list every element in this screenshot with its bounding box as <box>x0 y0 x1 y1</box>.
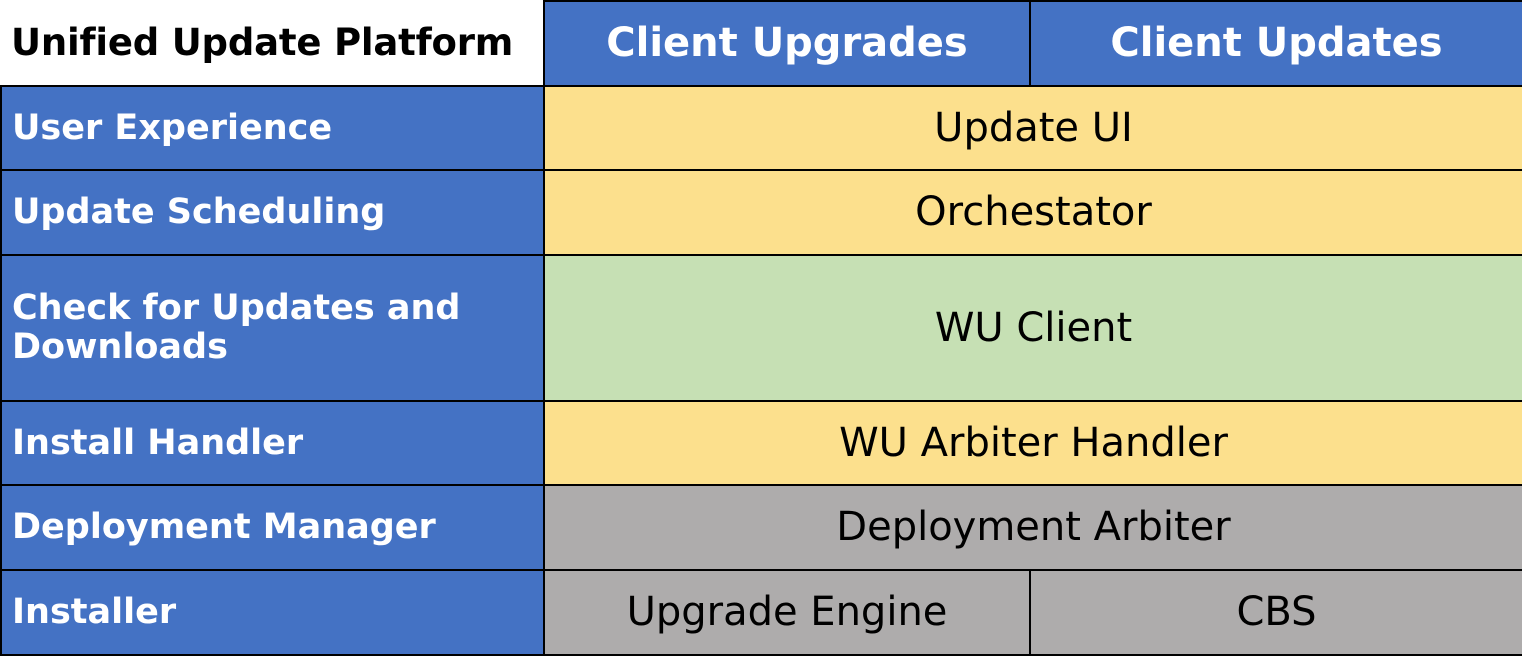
table-row: Install Handler WU Arbiter Handler <box>1 401 1522 486</box>
cell-deployment-arbiter: Deployment Arbiter <box>544 485 1522 570</box>
cell-update-ui: Update UI <box>544 86 1522 171</box>
table-row: Deployment Manager Deployment Arbiter <box>1 485 1522 570</box>
unified-update-platform-table: Unified Update Platform Client Upgrades … <box>0 0 1522 656</box>
cell-orchestator: Orchestator <box>544 170 1522 255</box>
table-row: Installer Upgrade Engine CBS <box>1 570 1522 655</box>
column-header-client-upgrades: Client Upgrades <box>544 1 1030 86</box>
cell-upgrade-engine: Upgrade Engine <box>544 570 1030 655</box>
cell-wu-client: WU Client <box>544 255 1522 401</box>
table-header-row: Unified Update Platform Client Upgrades … <box>1 1 1522 86</box>
row-label-check-for-updates-and-downloads: Check for Updates and Downloads <box>1 255 544 401</box>
row-label-update-scheduling: Update Scheduling <box>1 170 544 255</box>
table-row: User Experience Update UI <box>1 86 1522 171</box>
row-label-user-experience: User Experience <box>1 86 544 171</box>
cell-cbs: CBS <box>1030 570 1522 655</box>
row-label-install-handler: Install Handler <box>1 401 544 486</box>
table-row: Check for Updates and Downloads WU Clien… <box>1 255 1522 401</box>
page-title: Unified Update Platform <box>1 1 544 86</box>
table-body: Unified Update Platform Client Upgrades … <box>1 1 1522 655</box>
column-header-client-updates: Client Updates <box>1030 1 1522 86</box>
cell-wu-arbiter-handler: WU Arbiter Handler <box>544 401 1522 486</box>
row-label-deployment-manager: Deployment Manager <box>1 485 544 570</box>
table-row: Update Scheduling Orchestator <box>1 170 1522 255</box>
row-label-installer: Installer <box>1 570 544 655</box>
